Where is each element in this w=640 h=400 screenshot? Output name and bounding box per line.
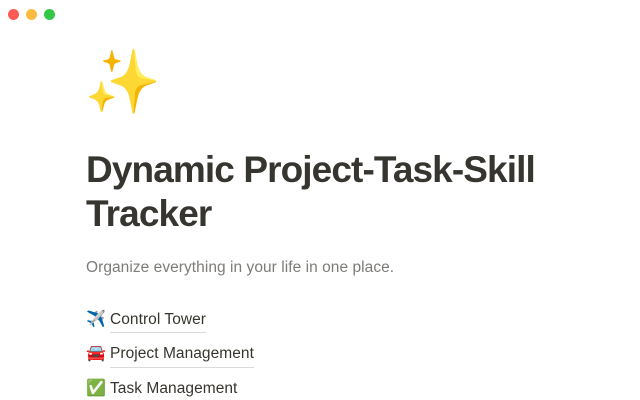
page-canvas: ✨ Dynamic Project-Task-Skill Tracker Org… xyxy=(0,28,640,400)
page-link-control-tower[interactable]: Control Tower xyxy=(110,309,206,333)
page-link-task-management[interactable]: Task Management xyxy=(110,378,237,400)
check-mark-button-emoji: ✅ xyxy=(86,377,110,400)
maximize-window-button[interactable] xyxy=(44,9,55,20)
page-link-project-management[interactable]: Project Management xyxy=(110,343,254,367)
car-emoji: 🚘 xyxy=(86,342,110,365)
page-title[interactable]: Dynamic Project-Task-Skill Tracker xyxy=(86,148,541,235)
minimize-window-button[interactable] xyxy=(26,9,37,20)
close-window-button[interactable] xyxy=(8,9,19,20)
list-item[interactable]: ✅ Task Management xyxy=(86,377,600,400)
sparkles-emoji[interactable]: ✨ xyxy=(84,52,600,124)
airplane-emoji: ✈️ xyxy=(86,308,110,331)
traffic-light-controls xyxy=(8,9,55,20)
window-titlebar xyxy=(0,0,640,28)
page-content: ✨ Dynamic Project-Task-Skill Tracker Org… xyxy=(0,28,640,400)
page-link-list: ✈️ Control Tower 🚘 Project Management ✅ … xyxy=(86,308,600,400)
list-item[interactable]: ✈️ Control Tower xyxy=(86,308,600,333)
list-item[interactable]: 🚘 Project Management xyxy=(86,342,600,367)
page-subtitle[interactable]: Organize everything in your life in one … xyxy=(86,256,600,279)
